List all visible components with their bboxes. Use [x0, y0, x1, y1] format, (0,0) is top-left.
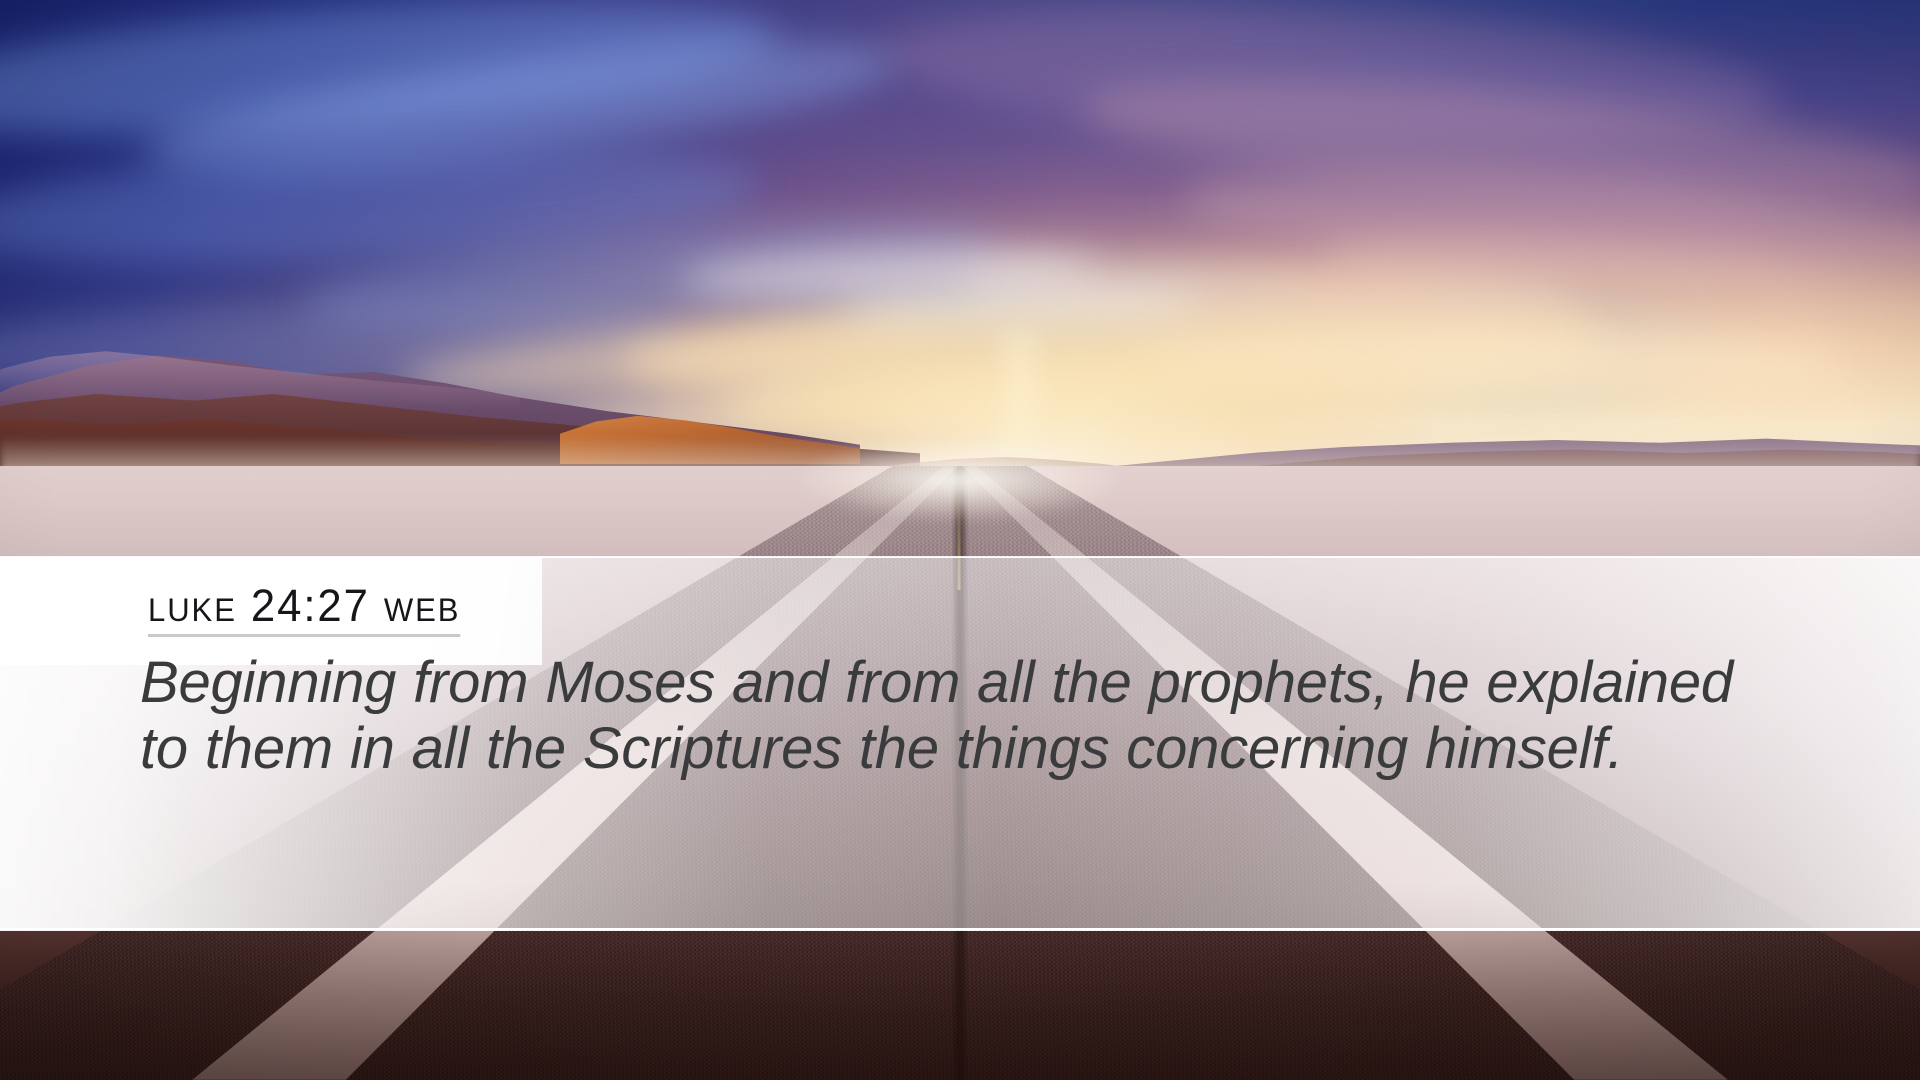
overlay-bottom-divider: [0, 928, 1920, 931]
verse-reference: Luke 24:27 WEB: [148, 583, 470, 637]
verse-text: Beginning from Moses and from all the pr…: [140, 650, 1740, 781]
verse-image-canvas: Luke 24:27 WEB Beginning from Moses and …: [0, 0, 1920, 1080]
verse-reference-label: Luke 24:27 WEB: [148, 583, 460, 637]
